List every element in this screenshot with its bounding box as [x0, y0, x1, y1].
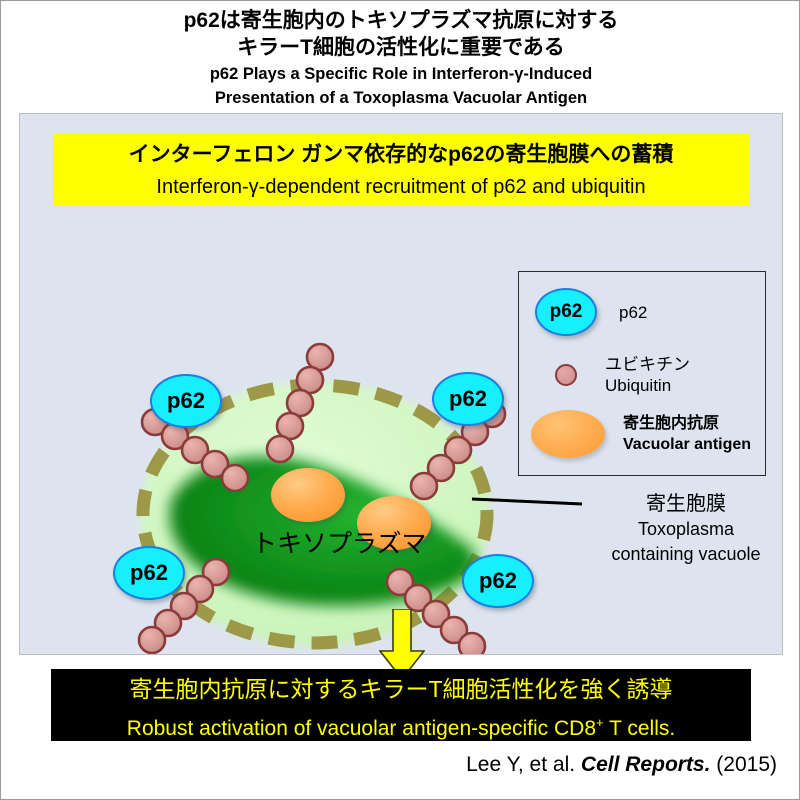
title-english-line1: p62 Plays a Specific Role in Interferon-…	[1, 63, 800, 85]
black-banner-english-pre: Robust activation of vacuolar antigen-sp…	[127, 717, 596, 740]
legend-item-ubiquitin: ユビキチン Ubiquitin	[555, 354, 690, 396]
black-banner-japanese: 寄生胞内抗原に対するキラーT細胞活性化を強く誘導	[51, 672, 751, 707]
black-banner-english-post: T cells.	[604, 717, 676, 740]
p62-icon-label: p62	[550, 301, 583, 323]
citation: Lee Y, et al. Cell Reports. (2015)	[466, 753, 777, 777]
legend-label-ubiquitin-jp: ユビキチン	[605, 354, 690, 375]
callout-japanese: 寄生胞膜	[598, 492, 774, 517]
legend-item-p62: p62 p62	[535, 288, 647, 336]
vacuolar-antigen-1	[271, 468, 345, 522]
p62-bubble-label: p62	[479, 568, 517, 594]
slide-page: p62は寄生胞内のトキソプラズマ抗原に対する キラーT細胞の活性化に重要である …	[0, 0, 800, 800]
p62-bubble-bottom-left[interactable]: p62	[113, 546, 185, 600]
p62-bubble-top-right[interactable]: p62	[432, 372, 504, 426]
callout-label: 寄生胞膜 Toxoplasma containing vacuole	[598, 492, 774, 567]
diagram-panel: インターフェロン ガンマ依存的なp62の寄生胞膜への蓄積 Interferon-…	[19, 113, 783, 655]
title-japanese-line1: p62は寄生胞内のトキソプラズマ抗原に対する	[1, 7, 800, 34]
antigen-ellipse-icon	[531, 410, 605, 458]
legend-label-antigen-en: Vacuolar antigen	[623, 434, 751, 455]
p62-bubble-top-left[interactable]: p62	[150, 374, 222, 428]
p62-bubble-label: p62	[167, 388, 205, 414]
p62-circle-icon: p62	[535, 288, 597, 336]
p62-bubble-bottom-right[interactable]: p62	[462, 554, 534, 608]
citation-authors: Lee Y, et al.	[466, 753, 581, 776]
legend-label-p62-en: p62	[619, 302, 647, 323]
callout-english-line2: containing vacuole	[598, 542, 774, 567]
black-banner-english: Robust activation of vacuolar antigen-sp…	[51, 707, 751, 744]
parasite-label: トキソプラズマ	[252, 524, 427, 560]
p62-bubble-label: p62	[449, 386, 487, 412]
black-banner-english-sup: +	[596, 715, 604, 730]
legend-item-antigen: 寄生胞内抗原 Vacuolar antigen	[531, 410, 751, 458]
title-japanese-line2: キラーT細胞の活性化に重要である	[1, 34, 800, 61]
title-english-line2: Presentation of a Toxoplasma Vacuolar An…	[1, 87, 800, 109]
callout-english-line1: Toxoplasma	[598, 517, 774, 542]
p62-bubble-label: p62	[130, 560, 168, 586]
ubiquitin-dot-icon	[555, 364, 577, 386]
black-banner: 寄生胞内抗原に対するキラーT細胞活性化を強く誘導 Robust activati…	[51, 669, 751, 741]
page-title: p62は寄生胞内のトキソプラズマ抗原に対する キラーT細胞の活性化に重要である …	[1, 7, 800, 109]
citation-journal: Cell Reports.	[581, 753, 711, 776]
legend-label-antigen-jp: 寄生胞内抗原	[623, 413, 751, 434]
legend-box: p62 p62 ユビキチン Ubiquitin 寄生胞内抗原 Vacuolar …	[518, 271, 766, 476]
legend-label-ubiquitin-en: Ubiquitin	[605, 375, 690, 396]
citation-year: (2015)	[710, 753, 777, 776]
